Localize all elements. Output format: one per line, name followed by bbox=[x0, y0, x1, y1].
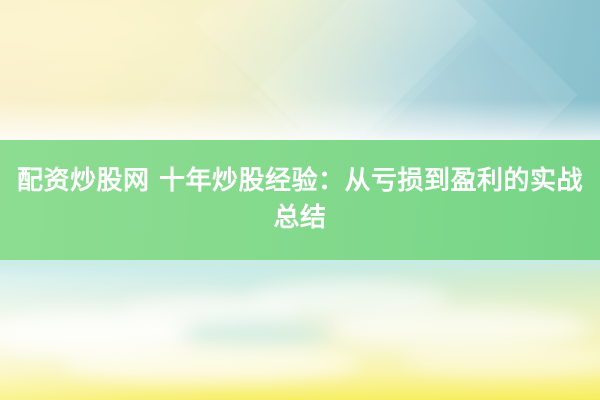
page-title-line-1: 配资炒股网 十年炒股经验：从亏损到盈利的实战 bbox=[17, 166, 583, 196]
top-decorative-band bbox=[0, 0, 600, 140]
bottom-decorative-band bbox=[0, 260, 600, 400]
title-band: 配资炒股网 十年炒股经验：从亏损到盈利的实战总结 bbox=[0, 140, 600, 260]
decorative-cloud bbox=[180, 322, 330, 348]
page-title: 配资炒股网 十年炒股经验：从亏损到盈利的实战总结 bbox=[15, 163, 585, 237]
page-title-line-2: 总结 bbox=[273, 203, 326, 233]
banner-image: 配资炒股网 十年炒股经验：从亏损到盈利的实战总结 bbox=[0, 0, 600, 400]
top-band-bottom-fade bbox=[0, 100, 600, 140]
decorative-cloud bbox=[330, 308, 590, 348]
decorative-cloud bbox=[60, 346, 360, 382]
bottom-band-top-fade bbox=[0, 260, 600, 278]
